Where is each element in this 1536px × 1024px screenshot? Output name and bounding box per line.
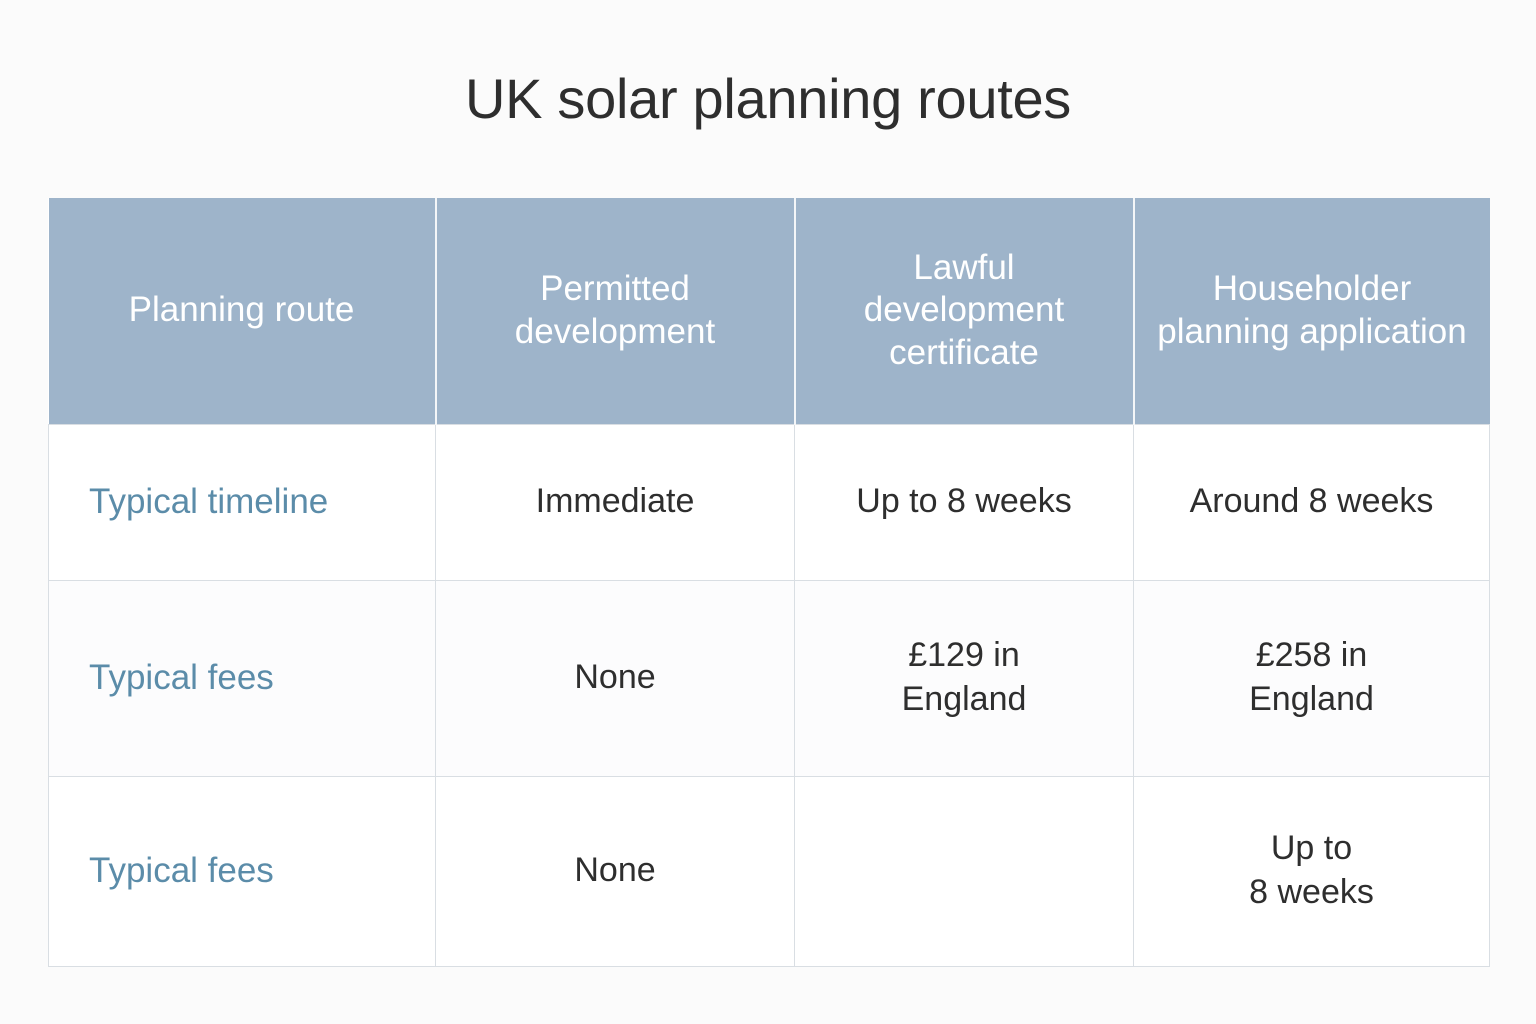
column-header-lawful-development-certificate: Lawful development certificate bbox=[795, 198, 1134, 424]
planning-routes-table: Planning route Permitted development Law… bbox=[48, 198, 1490, 967]
table-cell: £129 in England bbox=[795, 580, 1134, 776]
row-label-typical-fees: Typical fees bbox=[49, 776, 436, 966]
table-cell: Immediate bbox=[436, 424, 795, 580]
table-cell: Up to 8 weeks bbox=[1134, 776, 1490, 966]
table-body: Typical timeline Immediate Up to 8 weeks… bbox=[49, 424, 1490, 966]
cell-line: £129 in bbox=[809, 634, 1119, 678]
cell-line: None bbox=[450, 656, 780, 700]
cell-line: 8 weeks bbox=[1148, 871, 1475, 915]
row-label-typical-timeline: Typical timeline bbox=[49, 424, 436, 580]
page-title: UK solar planning routes bbox=[0, 68, 1536, 130]
cell-line: Immediate bbox=[450, 480, 780, 524]
cell-line: Up to bbox=[1148, 827, 1475, 871]
row-label-typical-fees: Typical fees bbox=[49, 580, 436, 776]
column-header-permitted-development: Permitted development bbox=[436, 198, 795, 424]
cell-line: England bbox=[1148, 678, 1475, 722]
cell-line: £258 in bbox=[1148, 634, 1475, 678]
table-cell: Up to 8 weeks bbox=[795, 424, 1134, 580]
column-header-planning-route: Planning route bbox=[49, 198, 436, 424]
table-cell-empty bbox=[795, 776, 1134, 966]
table-cell: None bbox=[436, 776, 795, 966]
page-root: UK solar planning routes Planning route … bbox=[0, 0, 1536, 1024]
table-cell: Around 8 weeks bbox=[1134, 424, 1490, 580]
table-cell: None bbox=[436, 580, 795, 776]
table-header: Planning route Permitted development Law… bbox=[49, 198, 1490, 424]
table-row: Typical timeline Immediate Up to 8 weeks… bbox=[49, 424, 1490, 580]
cell-line: Up to 8 weeks bbox=[809, 480, 1119, 524]
routes-table-container: Planning route Permitted development Law… bbox=[48, 198, 1489, 967]
cell-line: None bbox=[450, 849, 780, 893]
table-cell: £258 in England bbox=[1134, 580, 1490, 776]
cell-line: England bbox=[809, 678, 1119, 722]
table-header-row: Planning route Permitted development Law… bbox=[49, 198, 1490, 424]
cell-line: Around 8 weeks bbox=[1148, 480, 1475, 524]
table-row: Typical fees None Up to 8 weeks bbox=[49, 776, 1490, 966]
column-header-householder-planning-application: Householder planning application bbox=[1134, 198, 1490, 424]
table-row: Typical fees None £129 in England £258 i… bbox=[49, 580, 1490, 776]
